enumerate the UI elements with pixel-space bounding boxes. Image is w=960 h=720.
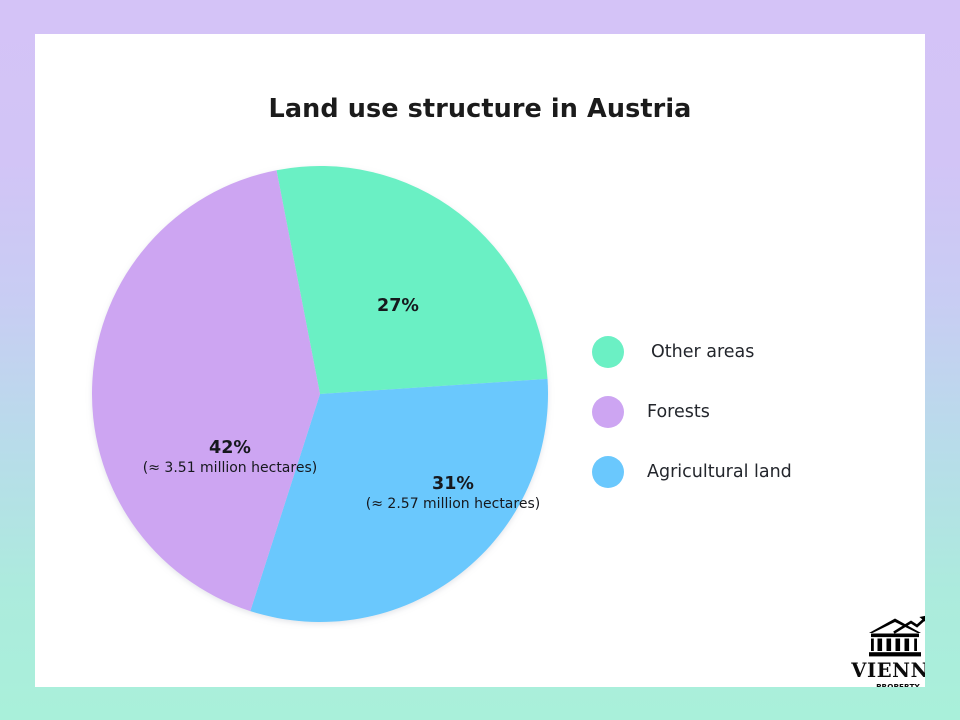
legend-label-agricultural-land: Agricultural land <box>647 462 792 482</box>
legend-label-forests: Forests <box>647 402 710 422</box>
slide-background: Land use structure in Austria 27% <box>0 0 960 720</box>
pie-chart <box>85 159 555 629</box>
legend-label-other-areas: Other areas <box>651 342 754 362</box>
slide-card: Land use structure in Austria 27% <box>35 34 925 687</box>
brand-tagline: PROPERTY INVESTMENT <box>850 682 925 687</box>
chart-legend: Other areas Forests Agricultural land <box>592 322 892 502</box>
page-title: Land use structure in Austria <box>35 94 925 124</box>
legend-item-forests[interactable]: Forests <box>592 382 892 442</box>
pie-chart-svg <box>85 159 555 629</box>
brand-name: VIENNA <box>850 660 925 681</box>
brand-logo: VIENNA PROPERTY INVESTMENT <box>850 612 925 687</box>
bank-growth-arrow-icon <box>865 612 925 659</box>
pie-slice-other-areas[interactable] <box>277 166 548 394</box>
legend-color-swatch-agricultural-land <box>592 456 624 488</box>
legend-color-swatch-forests <box>592 396 624 428</box>
legend-item-other-areas[interactable]: Other areas <box>592 322 892 382</box>
legend-color-swatch-other-areas <box>592 336 624 368</box>
legend-item-agricultural-land[interactable]: Agricultural land <box>592 442 892 502</box>
